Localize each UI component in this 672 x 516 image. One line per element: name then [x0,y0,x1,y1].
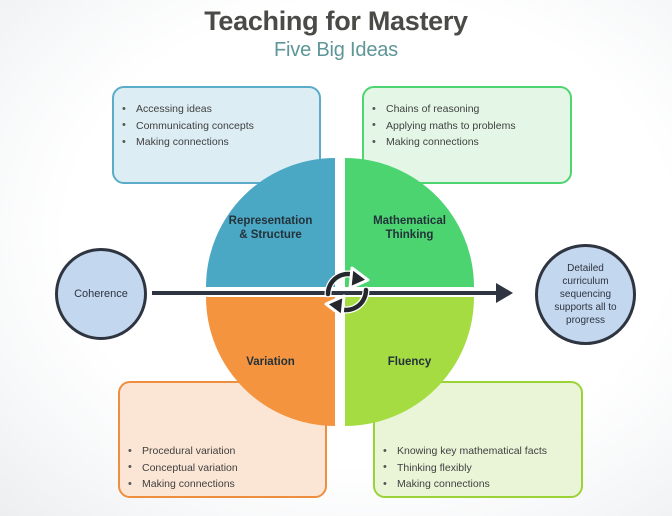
list-item: Making connections [364,134,570,151]
circle-coherence: Coherence [55,248,147,340]
seq-line-3: sequencing [560,289,611,300]
quadrant-label-line1: Mathematical [373,215,446,227]
quadrant-label: Representation & Structure [206,214,335,242]
quadrant-label: Mathematical Thinking [345,214,474,242]
list-item: Accessing ideas [114,101,319,118]
list-item: Making connections [375,476,581,493]
progress-arrow-head-icon [496,283,513,303]
list-item: Chains of reasoning [364,101,570,118]
seq-line-4: supports all to [554,302,616,313]
circle-curriculum-sequencing-label: Detailed curriculum sequencing supports … [545,262,625,327]
list-item: Thinking flexibly [375,460,581,477]
cycle-arrows-icon [316,258,378,326]
quadrant-label: Variation [206,355,335,369]
page-subtitle: Five Big Ideas [0,39,672,62]
title-block: Teaching for Mastery Five Big Ideas [0,6,672,62]
quadrant-label-line2: & Structure [239,229,302,241]
quadrant-label-line1: Representation [229,215,313,227]
quadrant-label-line2: Thinking [386,229,434,241]
seq-line-2: curriculum [562,276,608,287]
seq-line-5: progress [566,315,605,326]
callout-list: Accessing ideas Communicating concepts M… [114,88,319,151]
list-item: Procedural variation [120,443,325,460]
list-item: Knowing key mathematical facts [375,443,581,460]
callout-list: Chains of reasoning Applying maths to pr… [364,88,570,151]
list-item: Conceptual variation [120,460,325,477]
circle-curriculum-sequencing: Detailed curriculum sequencing supports … [535,244,636,345]
circle-coherence-label: Coherence [74,288,128,300]
list-item: Making connections [120,476,325,493]
list-item: Communicating concepts [114,118,319,135]
list-item: Applying maths to problems [364,118,570,135]
seq-line-1: Detailed [567,263,604,274]
list-item: Making connections [114,134,319,151]
quadrant-label: Fluency [345,355,474,369]
page-title: Teaching for Mastery [0,6,672,37]
